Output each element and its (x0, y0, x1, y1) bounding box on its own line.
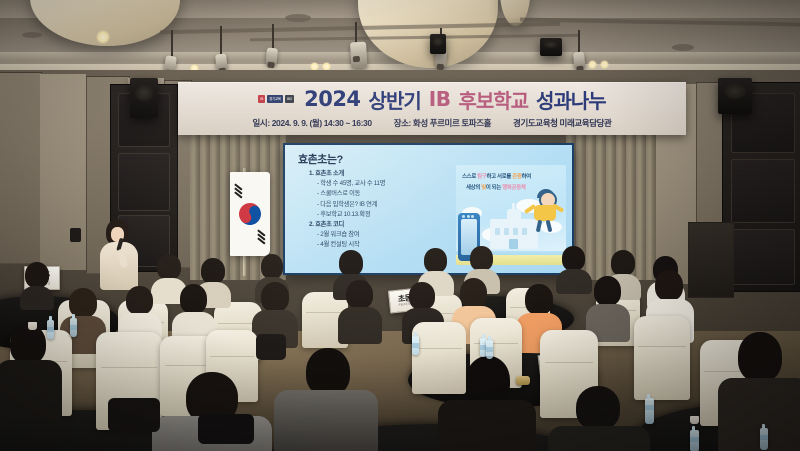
hair-clip-icon (516, 376, 530, 385)
list-item: - 후보학교 10.13.확정 (309, 210, 464, 220)
banner-title-ib: IB (429, 87, 451, 111)
presenter (96, 222, 142, 292)
banner-year: 2024 (304, 87, 360, 111)
audience-member (338, 280, 380, 342)
ceiling-spotlight (573, 52, 585, 70)
banner-title-row: IB 경기교육 IBO 2024 상반기 IB 후보학교 성과나누 (178, 85, 686, 113)
badge-ibo: IBO (285, 95, 294, 103)
list-item: - 학생 수 45명, 교사 수 11명 (309, 179, 464, 189)
water-bottle[interactable] (47, 320, 54, 339)
audience-member-foreground (278, 348, 374, 451)
water-bottle[interactable] (412, 336, 419, 355)
student-character-icon (530, 191, 560, 231)
banner-title-part1: 상반기 (369, 85, 421, 114)
wall-panel (0, 72, 42, 264)
illustration-line-2: 세상의 빛이 되는 행복공동체 (466, 183, 526, 191)
wall-outlet (70, 228, 81, 242)
ceiling-spotlight (266, 48, 278, 66)
banner-title-part3: 성과나누 (536, 85, 606, 114)
slide-title: 효촌초는? (298, 151, 343, 167)
bag (198, 414, 254, 444)
banner-logo-badges: IB 경기교육 IBO (258, 95, 294, 103)
hanging-speaker (430, 34, 446, 54)
badge-office: 경기교육 (267, 95, 283, 103)
event-banner: IB 경기교육 IBO 2024 상반기 IB 후보학교 성과나누 일시: 20… (178, 82, 686, 135)
list-item: 1. 효촌초 소개 (309, 169, 464, 179)
paper-cup[interactable] (28, 322, 37, 330)
audience-member-foreground (552, 386, 644, 451)
water-bottle[interactable] (70, 318, 77, 337)
conference-photo: IB 경기교육 IBO 2024 상반기 IB 후보학교 성과나누 일시: 20… (0, 0, 800, 451)
badge-ib: IB (258, 95, 265, 103)
water-bottle[interactable] (690, 430, 699, 451)
wall-speaker-left (130, 78, 158, 118)
wall-speaker-right (718, 78, 752, 114)
ceiling-spotlight (215, 53, 228, 71)
list-item: - 다음 입학생은? IB 연계 (309, 200, 464, 210)
audience-member (20, 262, 54, 308)
banner-title-part2: 후보학교 (458, 85, 528, 114)
slide-bullet-list: 1. 효촌초 소개 - 학생 수 45명, 교사 수 11명 - 스쿨버스로 이… (309, 169, 464, 251)
hanging-speaker (540, 38, 562, 56)
banner-organizer: 경기도교육청 미래교육담당관 (513, 117, 611, 129)
banner-venue: 장소: 화성 푸르미르 토파즈홀 (394, 117, 491, 129)
list-item: 2. 효촌초 코디 (309, 220, 464, 230)
water-bottle[interactable] (486, 340, 493, 359)
list-item: - 스쿨버스로 이동 (309, 189, 464, 199)
paper-cup[interactable] (690, 416, 699, 424)
wall-divider (688, 222, 734, 298)
ceiling-spotlight (350, 42, 367, 69)
water-bottle[interactable] (645, 398, 654, 424)
bag (256, 334, 286, 360)
bag (108, 398, 160, 432)
illustration-line-1: 스스로 탐구하고 서로를 존중하여 (462, 172, 531, 180)
audience-member (586, 276, 628, 340)
audience-member-foreground (440, 356, 532, 451)
taeguk-circle (235, 199, 266, 230)
dot-row (462, 215, 474, 218)
banner-subtitle-row: 일시: 2024. 9. 9. (월) 14:30 ~ 16:30 장소: 화성… (178, 113, 686, 133)
list-item: - 2월 워크숍 참여 (309, 230, 464, 240)
korean-flag (230, 172, 270, 256)
banner-date: 일시: 2024. 9. 9. (월) 14:30 ~ 16:30 (253, 117, 372, 129)
water-bottle[interactable] (760, 428, 768, 450)
